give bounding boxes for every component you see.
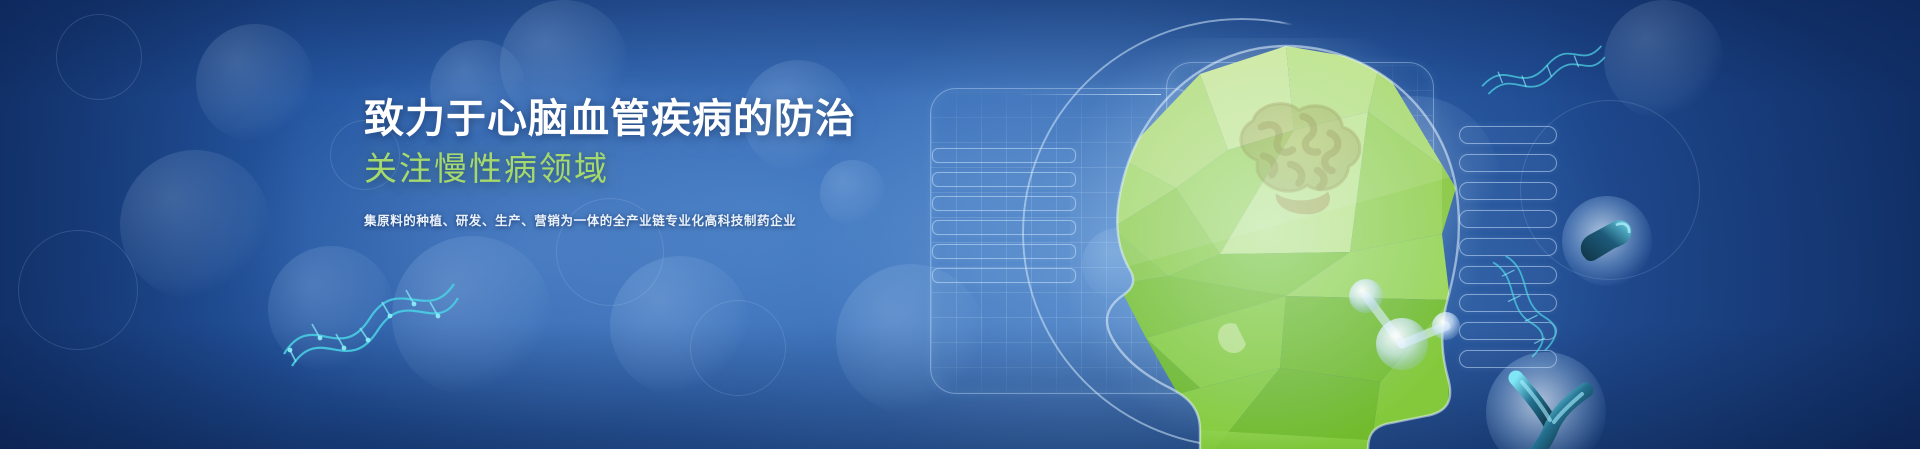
dna-icon — [278, 262, 458, 372]
bacteria-icon — [1576, 216, 1638, 268]
chromosome-icon — [1500, 372, 1604, 449]
molecule-graphic — [1340, 268, 1470, 388]
page-subtitle: 关注慢性病领域 — [364, 149, 834, 189]
page-tagline: 集原料的种植、研发、生产、营销为一体的全产业链专业化高科技制药企业 — [364, 212, 834, 230]
headline-prefix: 致力于 — [364, 97, 487, 141]
molecule-icon — [1340, 268, 1470, 388]
headline-emphasis: 心脑血管疾病 — [487, 97, 733, 141]
headline-suffix: 的防治 — [733, 97, 856, 141]
hero-banner: 致力于心脑血管疾病的防治 关注慢性病领域 集原料的种植、研发、生产、营销为一体的… — [0, 0, 1920, 449]
dna-helix-left — [278, 262, 458, 372]
hero-copy: 致力于心脑血管疾病的防治 关注慢性病领域 集原料的种植、研发、生产、营销为一体的… — [364, 96, 834, 230]
page-title: 致力于心脑血管疾病的防治 — [364, 96, 834, 142]
